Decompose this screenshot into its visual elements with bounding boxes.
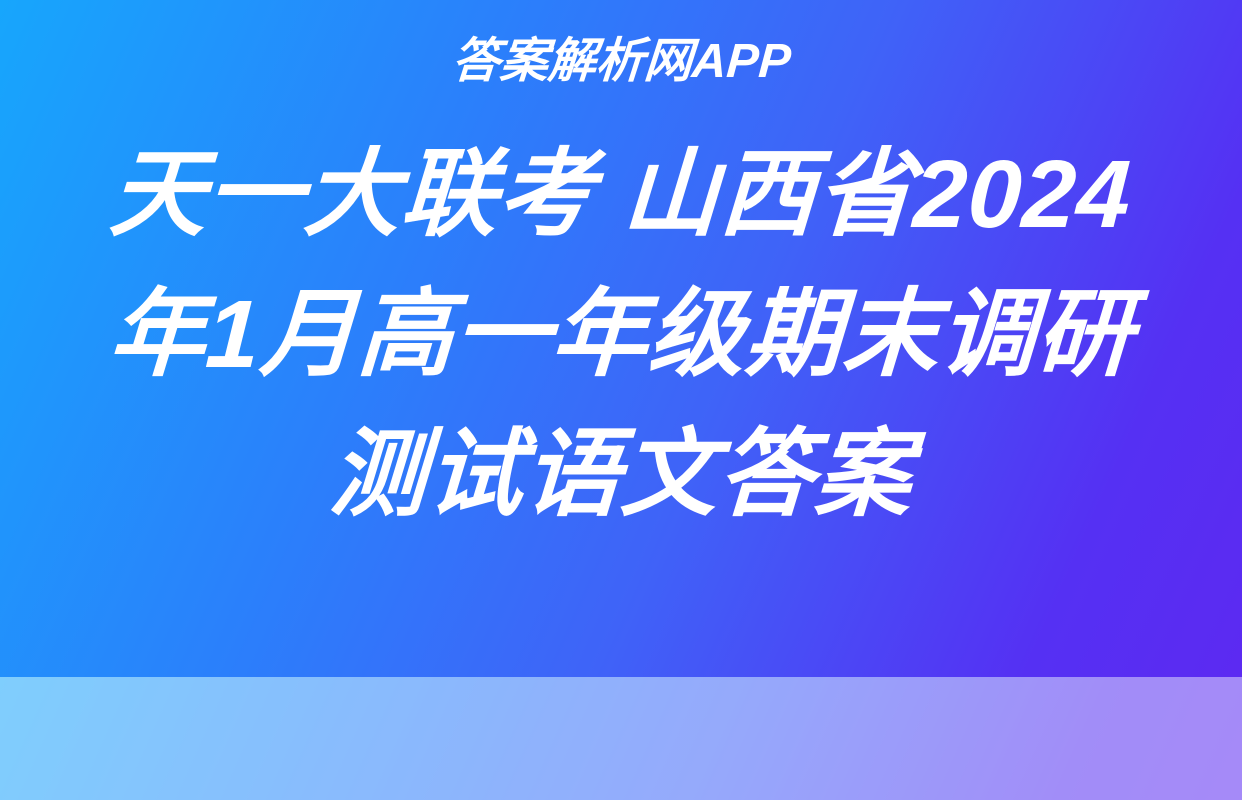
footer-brand-band <box>0 677 1242 800</box>
footer-brand-container: 答案解析网APP <box>0 0 1242 123</box>
title-line-2: 年1月高一年级期末调研 <box>105 265 1137 405</box>
title-line-3: 测试语文答案 <box>326 405 915 545</box>
footer-brand-text: 答案解析网APP <box>450 37 792 87</box>
poster-image: 天一大联考 山西省2024 年1月高一年级期末调研 测试语文答案 答案解析网AP… <box>0 0 1242 800</box>
title-line-1: 天一大联考 山西省2024 <box>107 125 1136 265</box>
